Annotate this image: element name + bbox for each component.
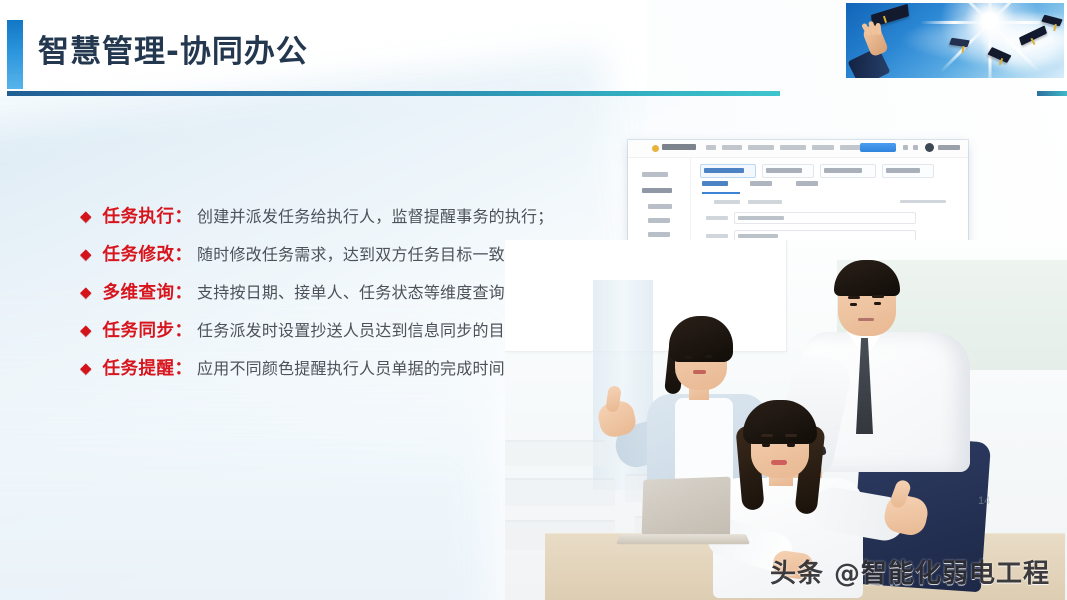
app-tab-strip [700,164,950,176]
bullet-colon: ： [175,241,193,266]
diamond-bullet-icon: ◆ [80,361,92,376]
list-item: ◆ 任务执行 ： 创建并派发任务给执行人，监督提醒事务的执行； [80,203,600,228]
slide-canvas: 智慧管理-协同办公 ◆ 任务执行 ： 创建并派发任务给执行人，监督提醒事务的执行… [0,0,1067,600]
app-nav-item [812,145,834,150]
bullet-key: 多维查询 [103,279,175,304]
sidebar-item [648,232,670,237]
page-number: 14 [978,495,990,507]
sidebar-item [642,172,668,177]
app-form-hint [900,200,946,203]
bullet-key: 任务提醒 [103,355,175,380]
bullet-colon: ： [175,355,193,380]
app-subtab [702,181,728,186]
sidebar-item [648,204,672,209]
app-nav-item [722,145,742,150]
bullet-text: 创建并派发任务给执行人，监督提醒事务的执行； [197,203,553,227]
bullet-text: 支持按日期、接单人、任务状态等维度查询； [197,279,521,303]
app-text-field [734,212,916,224]
app-logo-icon [652,145,659,152]
app-bell-icon [903,145,908,150]
bullet-colon: ： [175,317,193,342]
graduation-photo [846,3,1064,78]
app-tab [762,164,814,178]
app-tab [700,164,756,178]
app-nav-item [706,145,716,150]
bullet-text: 任务派发时设置抄送人员达到信息同步的目的； [197,317,537,341]
header-divider-rule [7,91,780,96]
bullet-colon: ： [175,203,193,228]
bullet-key: 任务执行 [103,203,175,228]
app-field-label [706,234,728,238]
app-form-value [748,200,782,204]
bullet-colon: ： [175,279,193,304]
diamond-bullet-icon: ◆ [80,323,92,338]
watermark: 头条 @智能化弱电工程 [770,553,1050,590]
app-tab [882,164,934,178]
header-divider-rule-tip [1037,91,1067,96]
app-tab [820,164,876,178]
app-brand-name [662,144,696,150]
bullet-text: 随时修改任务需求，达到双方任务目标一致； [197,241,521,265]
laptop-keyboard [616,534,750,544]
diamond-bullet-icon: ◆ [80,209,92,224]
bullet-key: 任务同步 [103,317,175,342]
app-username [938,145,960,150]
diamond-bullet-icon: ◆ [80,247,92,262]
app-form-label [714,200,740,204]
title-accent-bar [7,20,23,89]
bullet-key: 任务修改 [103,241,175,266]
app-subtab [796,181,818,186]
sidebar-item [642,188,672,193]
app-avatar [925,143,934,152]
page-title: 智慧管理-协同办公 [38,26,308,71]
bullet-text: 应用不同颜色提醒执行人员单据的完成时间。 [197,355,521,379]
laptop [618,478,748,554]
app-subtab-strip [702,181,862,189]
app-active-tab-underline [702,192,740,194]
app-nav-item [780,145,806,150]
people-photo [505,240,1067,600]
raised-arm [852,23,892,78]
sidebar-item [648,218,670,223]
diamond-bullet-icon: ◆ [80,285,92,300]
app-subtab [750,181,772,186]
app-nav-item [840,145,862,150]
app-help-icon [913,145,918,150]
app-field-label [706,216,728,220]
app-nav-item [748,145,774,150]
laptop-screen [642,477,731,538]
app-primary-button [860,143,896,152]
